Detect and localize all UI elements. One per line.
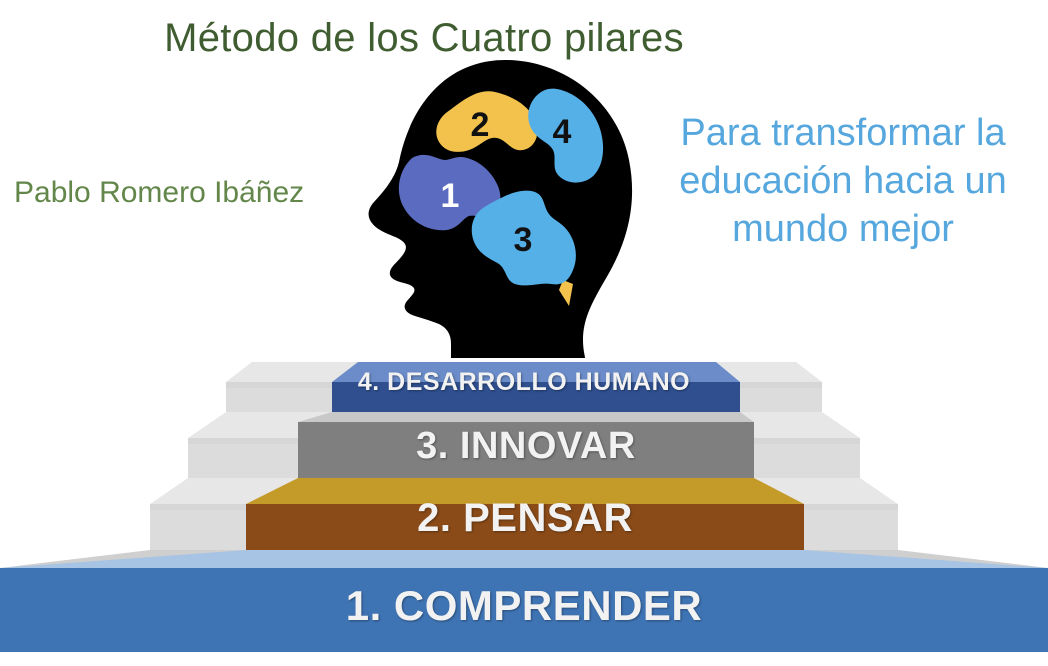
slide-canvas: Método de los Cuatro pilares Pablo Romer… — [0, 0, 1048, 666]
tagline-text: Para transformar la educación hacia un m… — [648, 110, 1038, 254]
step-label-pensar[interactable]: 2. PENSAR — [246, 492, 804, 544]
brain-region-4-number: 4 — [553, 113, 572, 151]
step-label-innovar[interactable]: 3. INNOVAR — [298, 423, 754, 469]
author-name: Pablo Romero Ibáñez — [14, 176, 304, 210]
head-brain-illustration: 1 2 3 4 — [355, 58, 645, 358]
brain-region-2-number: 2 — [471, 106, 490, 144]
step-label-desarrollo-humano[interactable]: 4. DESARROLLO HUMANO — [332, 363, 716, 401]
step-3-bevel — [298, 412, 754, 422]
brain-region-3-number: 3 — [514, 221, 533, 259]
brain-region-1-number: 1 — [441, 177, 460, 215]
step-label-comprender[interactable]: 1. COMPRENDER — [0, 578, 1048, 634]
page-title: Método de los Cuatro pilares — [0, 16, 1048, 61]
